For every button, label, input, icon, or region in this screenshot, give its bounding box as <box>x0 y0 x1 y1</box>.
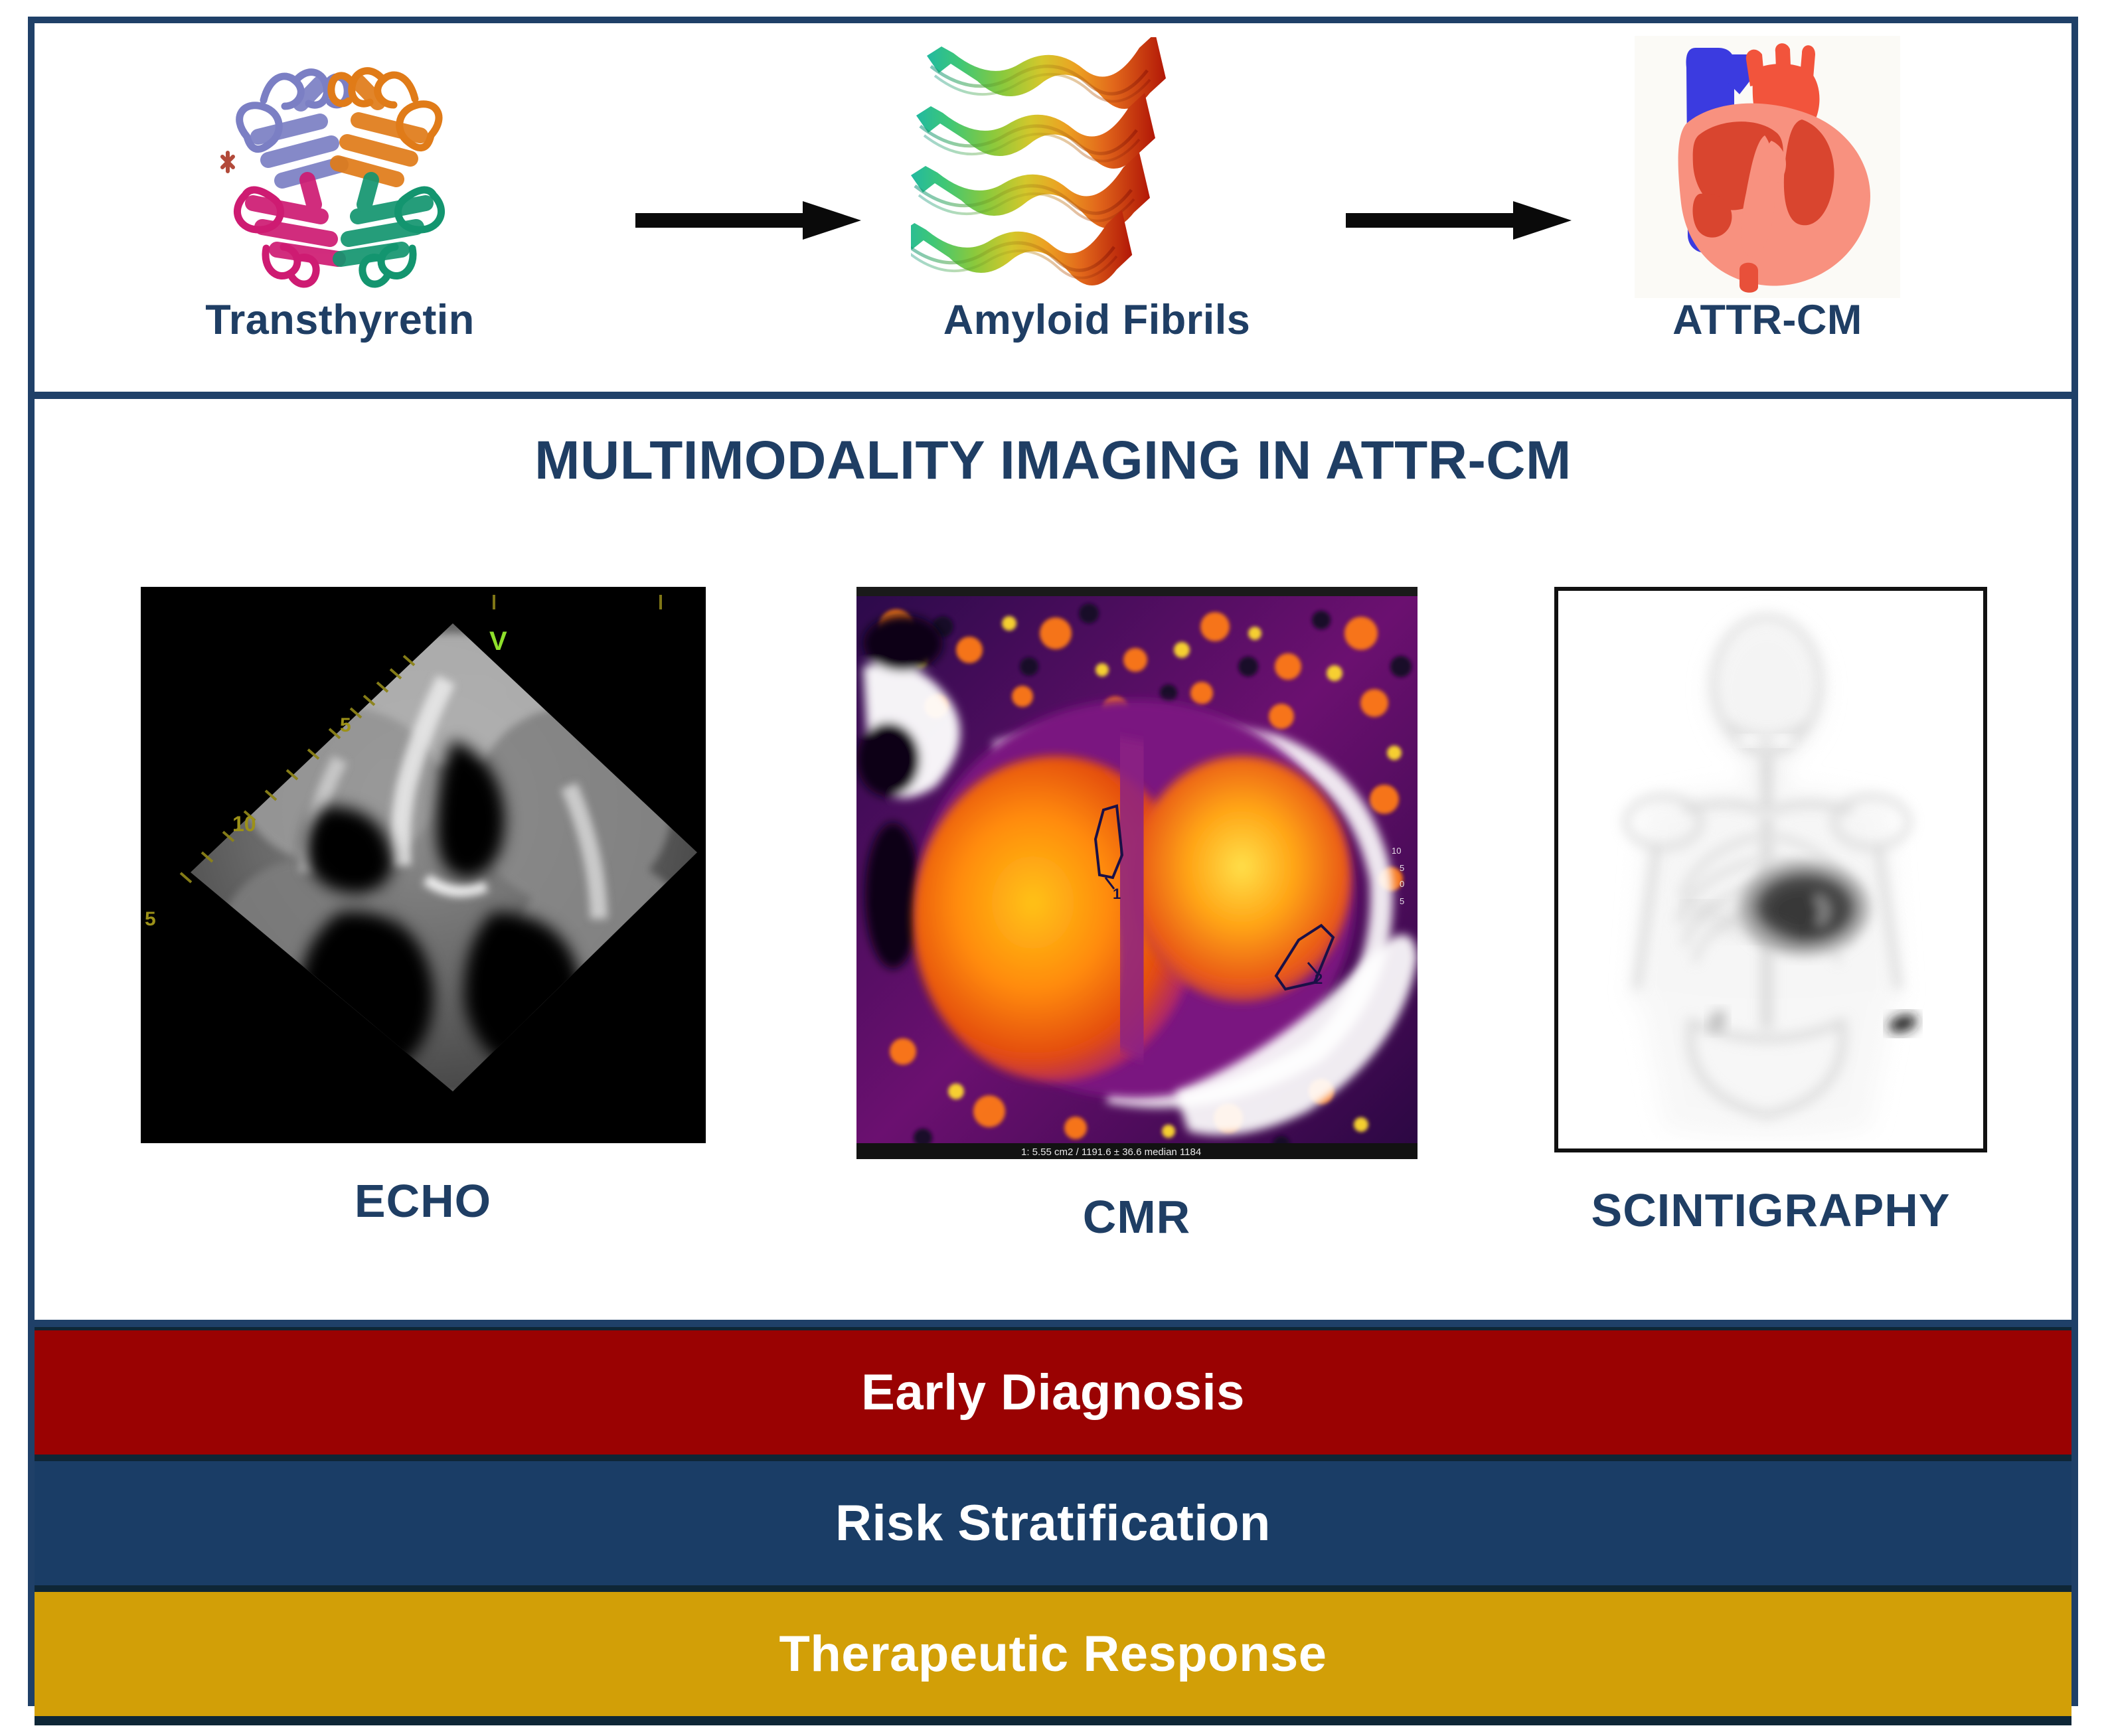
modality-cmr: 1 2 10 5 0 5 <box>821 587 1452 1240</box>
pathway-stage-amyloid-fibrils: Amyloid Fibrils <box>891 23 1303 392</box>
modality-row: 5 10 5 V ECHO <box>35 587 2071 1284</box>
cmr-roi-label-1: 1 <box>1113 886 1121 902</box>
echo-probe-orientation-marker: V <box>489 627 507 656</box>
outcome-label-risk-stratification: Risk Stratification <box>835 1498 1271 1549</box>
svg-text:10: 10 <box>1392 846 1401 856</box>
multimodality-imaging-panel: MULTIMODALITY IMAGING IN ATTR-CM <box>35 430 2071 1327</box>
amyloid-fibril-icon <box>911 34 1283 299</box>
scintigraphy-image <box>1554 587 1987 1152</box>
cmr-image: 1 2 10 5 0 5 <box>856 587 1418 1159</box>
echo-image: 5 10 5 V <box>141 587 706 1143</box>
heart-cross-section-icon <box>1635 34 1900 299</box>
svg-text:0: 0 <box>1400 879 1404 889</box>
cmr-roi-label-2: 2 <box>1315 971 1323 987</box>
arrow-fibrils-to-attrcm <box>1346 197 1572 244</box>
modality-echo: 5 10 5 V ECHO <box>108 587 738 1224</box>
cmr-roi-readout: 1: 5.55 cm2 / 1191.6 ± 36.6 median 1184 <box>1021 1146 1201 1158</box>
imaging-panel-title: MULTIMODALITY IMAGING IN ATTR-CM <box>35 430 2071 492</box>
modality-caption-echo: ECHO <box>355 1178 491 1224</box>
pathophysiology-pathway-panel: Transthyretin <box>35 23 2071 399</box>
svg-text:5: 5 <box>1400 896 1404 906</box>
pathway-stage-attr-cm: ATTR-CM <box>1601 23 1933 392</box>
cardiac-tracer-uptake-focus <box>1738 860 1870 956</box>
transthyretin-tetramer-icon <box>184 34 496 299</box>
pathway-stage-label-amyloid-fibrils: Amyloid Fibrils <box>943 299 1251 341</box>
clinical-outcomes-bars: Early Diagnosis Risk Stratification Ther… <box>35 1327 2071 1725</box>
graphical-abstract-frame: Transthyretin <box>28 17 2078 1706</box>
pathway-stage-transthyretin: Transthyretin <box>134 23 546 392</box>
outcome-bar-early-diagnosis: Early Diagnosis <box>35 1330 2071 1455</box>
modality-scintigraphy: SCINTIGRAPHY <box>1512 587 2030 1233</box>
echo-depth-marker-10: 10 <box>232 812 256 836</box>
outcome-label-early-diagnosis: Early Diagnosis <box>861 1368 1245 1418</box>
pathway-stage-label-attr-cm: ATTR-CM <box>1672 299 1862 341</box>
outcome-bar-therapeutic-response: Therapeutic Response <box>35 1592 2071 1716</box>
modality-caption-scintigraphy: SCINTIGRAPHY <box>1591 1187 1951 1233</box>
outcome-label-therapeutic-response: Therapeutic Response <box>779 1629 1327 1680</box>
svg-text:5: 5 <box>1400 863 1404 873</box>
echo-depth-marker-5-lower: 5 <box>145 908 156 930</box>
modality-caption-cmr: CMR <box>1083 1194 1190 1240</box>
pathway-stage-label-transthyretin: Transthyretin <box>205 299 475 341</box>
outcome-bar-risk-stratification: Risk Stratification <box>35 1461 2071 1585</box>
echo-depth-marker-5-upper: 5 <box>340 714 351 736</box>
arrow-transthyretin-to-fibrils <box>635 197 861 244</box>
